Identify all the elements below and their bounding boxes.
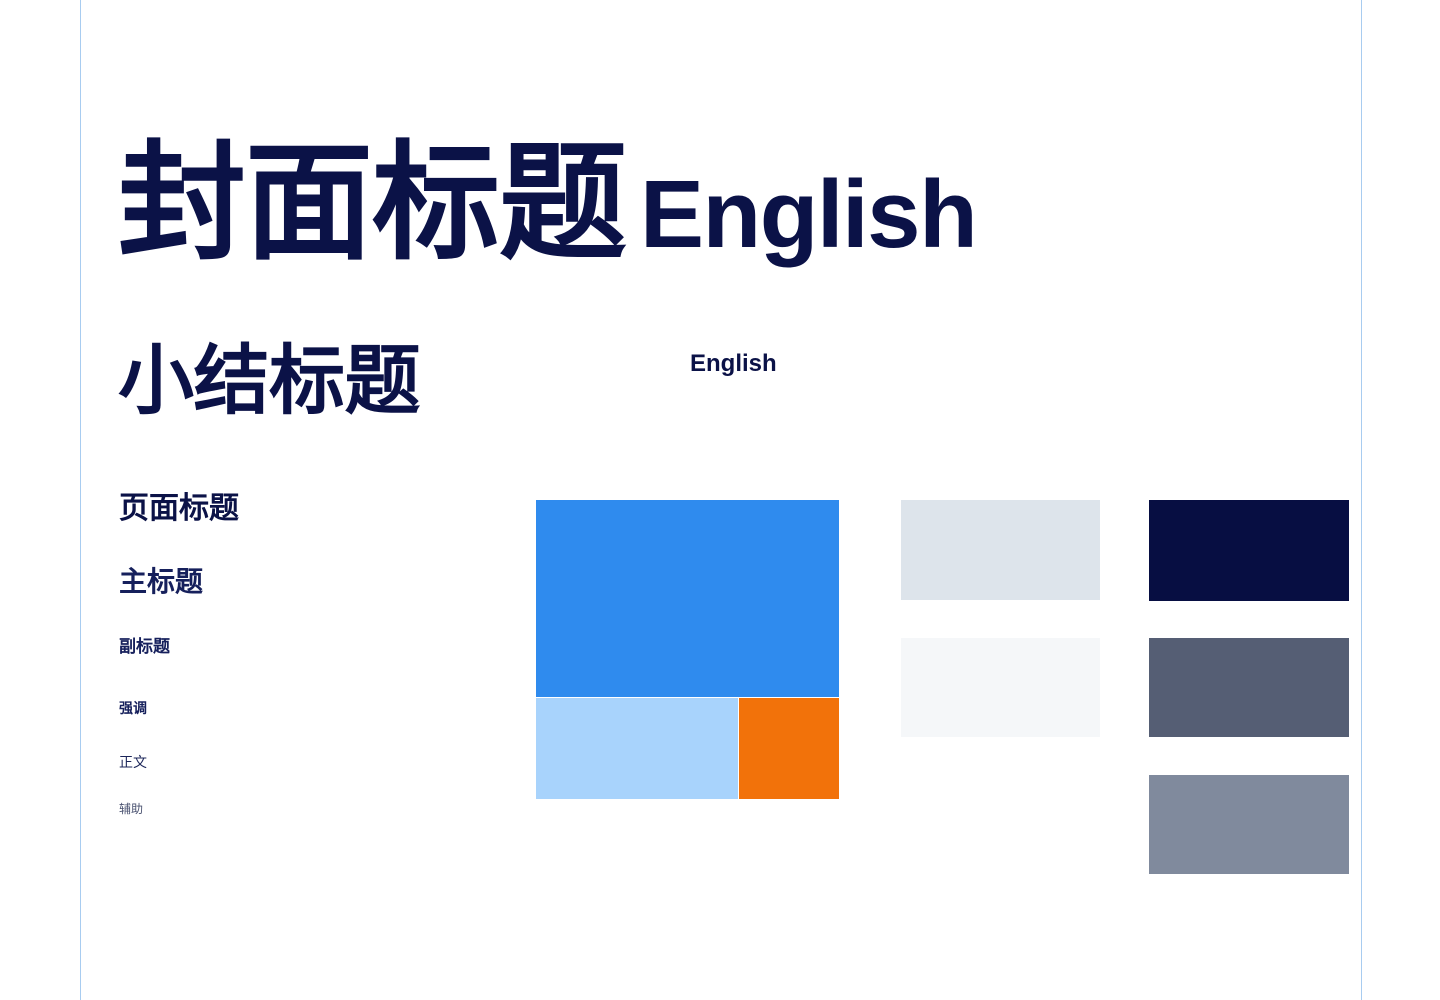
section-title-zh: 小结标题 [118, 344, 420, 420]
type-sample-main-title: 主标题 [119, 568, 449, 596]
specimen-page: 封面标题 English 小结标题 English 页面标题 主标题 副标题 强… [0, 0, 1440, 1000]
type-sample-emphasis: 强调 [119, 701, 449, 715]
type-sample-caption: 辅助 [119, 803, 449, 815]
color-swatch-dark-1 [1149, 500, 1349, 601]
layout-guide-left [80, 0, 81, 1000]
cover-title: 封面标题 English [118, 140, 976, 268]
color-swatch-primary [536, 500, 839, 697]
type-sample-sub-title: 副标题 [119, 638, 449, 655]
section-title-en: English [690, 352, 777, 376]
type-scale-list: 页面标题 主标题 副标题 强调 正文 辅助 [119, 494, 449, 815]
color-swatch-accent [739, 698, 839, 799]
color-swatch-dark-3 [1149, 775, 1349, 874]
type-sample-body: 正文 [119, 755, 449, 769]
type-sample-page-title: 页面标题 [119, 494, 449, 524]
color-swatch-primary-light [536, 698, 738, 799]
cover-title-zh: 封面标题 [118, 140, 626, 268]
layout-guide-right [1361, 0, 1362, 1000]
color-swatch-dark-2 [1149, 638, 1349, 737]
color-swatch-neutral-2 [901, 638, 1100, 737]
color-swatch-neutral-1 [901, 500, 1100, 600]
cover-title-en: English [640, 167, 976, 263]
